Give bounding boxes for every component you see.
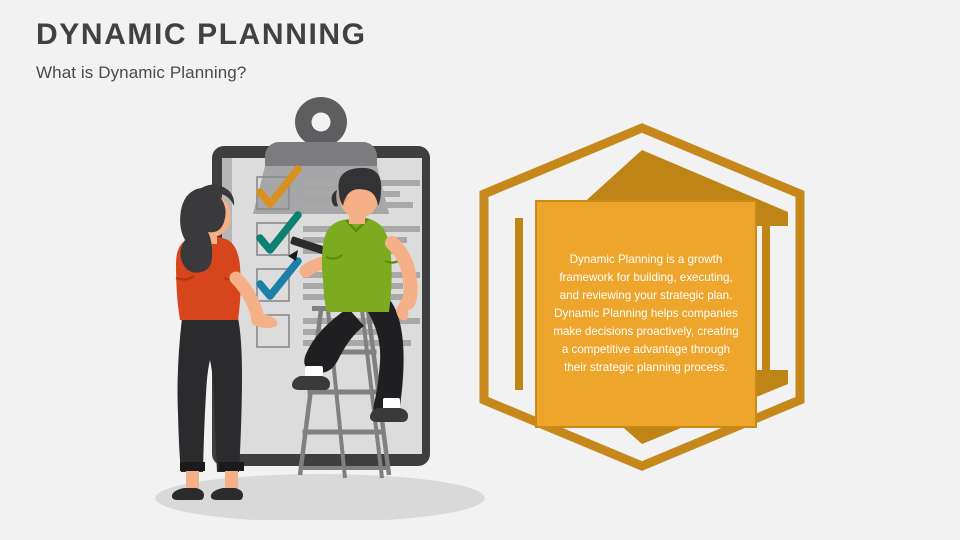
hexagon-content-panel: Dynamic Planning is a growth framework f… bbox=[470, 122, 815, 472]
clip-body bbox=[265, 142, 377, 166]
page-title: DYNAMIC PLANNING bbox=[36, 18, 636, 53]
content-card-text: Dynamic Planning is a growth framework f… bbox=[537, 251, 755, 377]
woman-ankle-right bbox=[225, 471, 238, 489]
woman-cuff-right bbox=[219, 462, 244, 471]
ground-shadow-ellipse bbox=[155, 474, 485, 520]
clip-ring-hole bbox=[312, 113, 331, 132]
content-card: Dynamic Planning is a growth framework f… bbox=[535, 200, 757, 428]
slide-canvas: DYNAMIC PLANNING What is Dynamic Plannin… bbox=[0, 0, 960, 540]
woman-cuff-left bbox=[180, 462, 205, 471]
slide-header: DYNAMIC PLANNING What is Dynamic Plannin… bbox=[36, 18, 636, 83]
hexagon-bar-right bbox=[762, 218, 770, 390]
man-shoe-front bbox=[370, 408, 408, 422]
woman-pants bbox=[178, 318, 243, 472]
woman-ankle-left bbox=[186, 471, 199, 489]
hexagon-bar-left bbox=[515, 218, 523, 390]
man-shoe-back bbox=[292, 376, 330, 390]
